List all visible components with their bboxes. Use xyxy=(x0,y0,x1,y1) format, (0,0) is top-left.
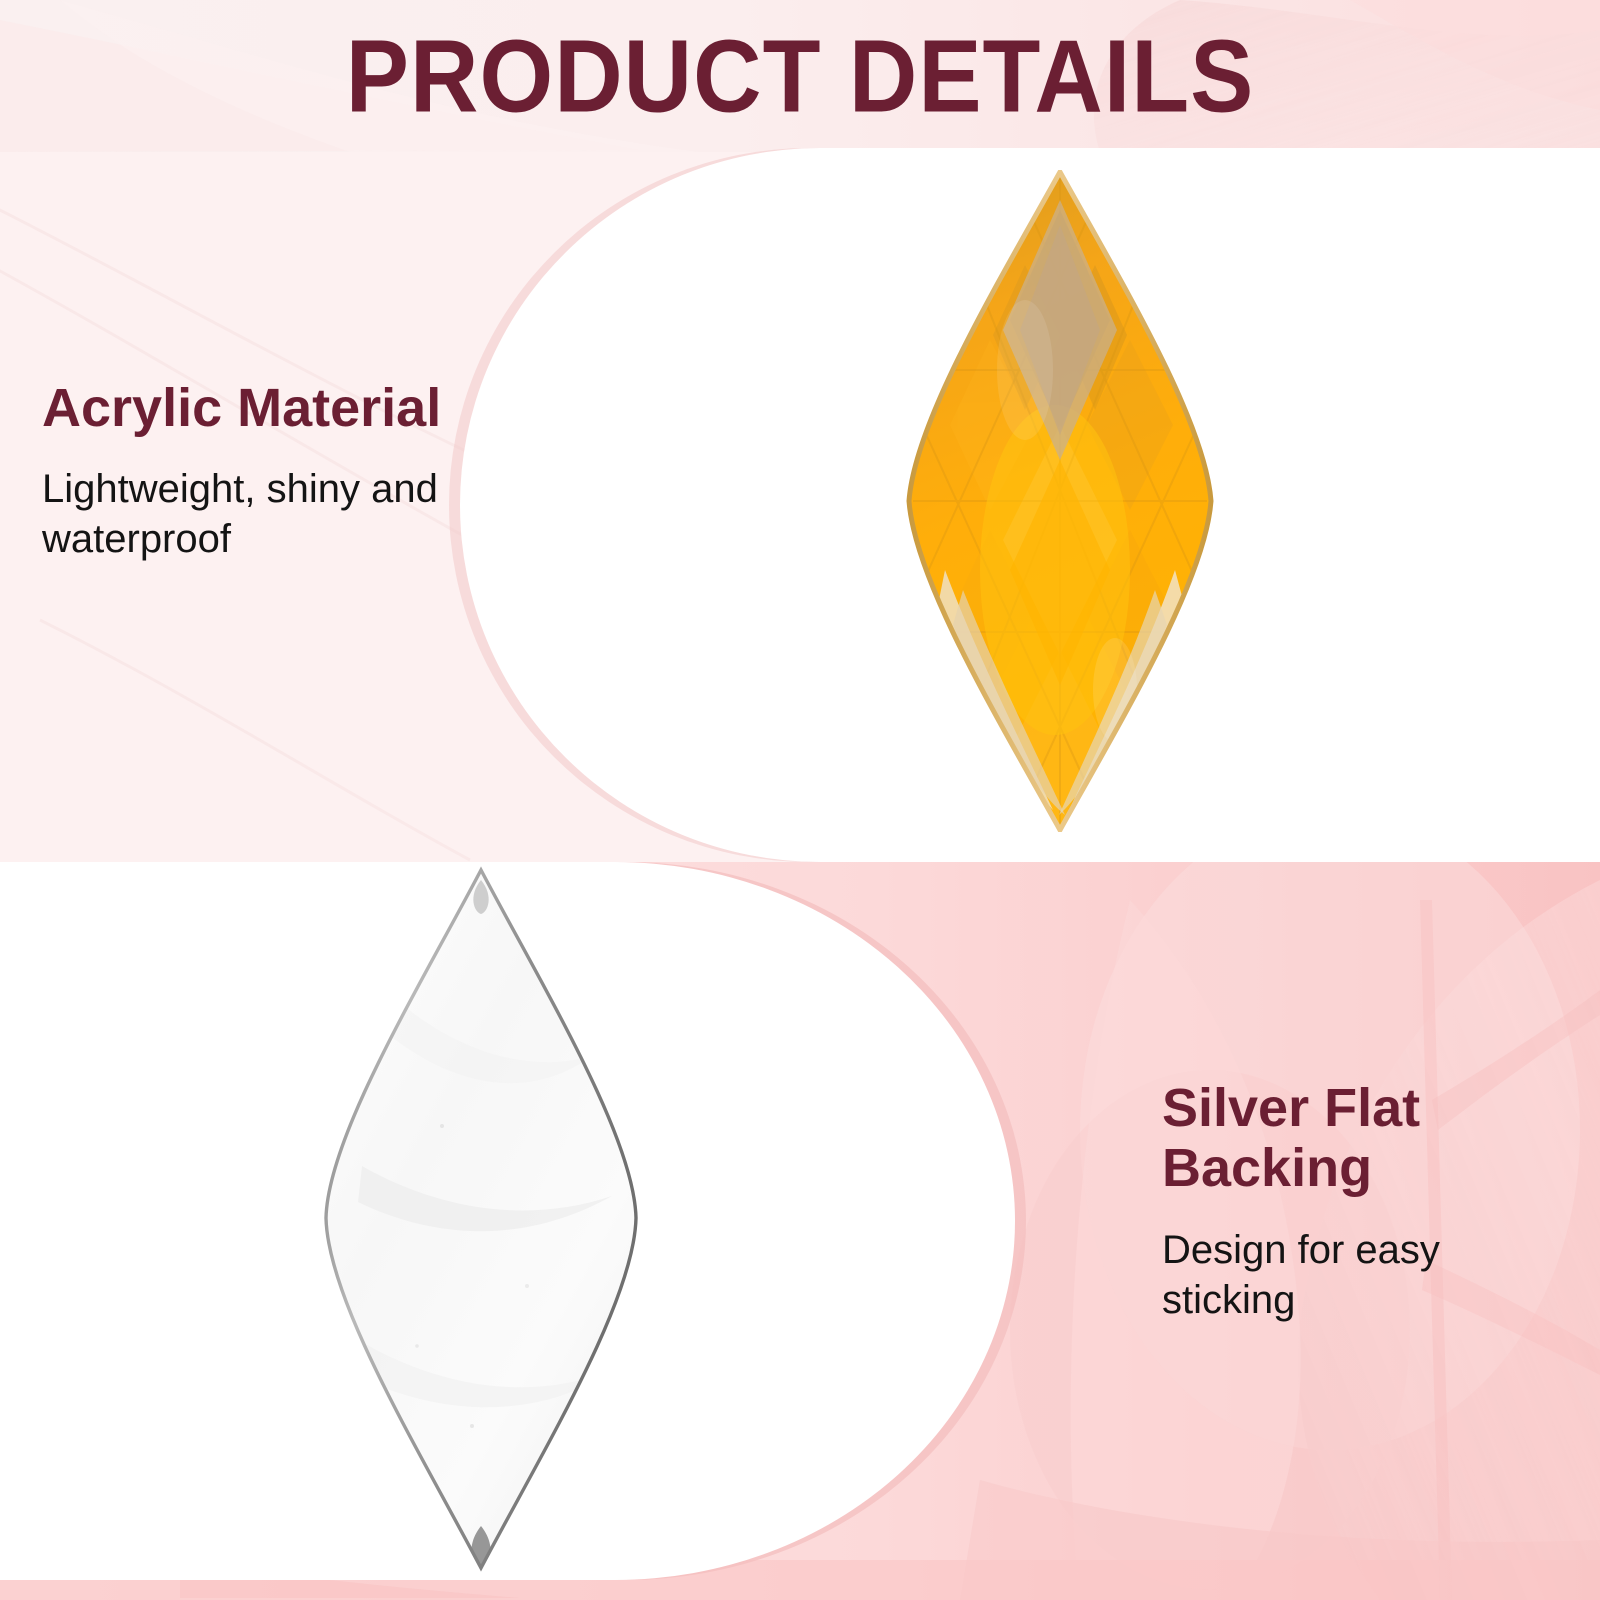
feature-block-acrylic-material: Acrylic Material Lightweight, shiny and … xyxy=(42,378,472,564)
product-details-infographic: PRODUCT DETAILS xyxy=(0,0,1600,1600)
feature-body-acrylic-material: Lightweight, shiny and waterproof xyxy=(42,464,472,564)
silver-flat-back-marquise-rhinestone-icon xyxy=(322,866,640,1572)
feature-body-silver-flat-backing: Design for easy sticking xyxy=(1162,1225,1582,1325)
feature-block-silver-flat-backing: Silver Flat Backing Design for easy stic… xyxy=(1162,1078,1582,1325)
page-title: PRODUCT DETAILS xyxy=(346,25,1255,128)
feature-heading-acrylic-material: Acrylic Material xyxy=(42,378,472,438)
yellow-faceted-marquise-rhinestone-icon xyxy=(905,170,1215,832)
feature-heading-silver-flat-backing: Silver Flat Backing xyxy=(1162,1078,1582,1199)
header: PRODUCT DETAILS xyxy=(0,0,1600,150)
